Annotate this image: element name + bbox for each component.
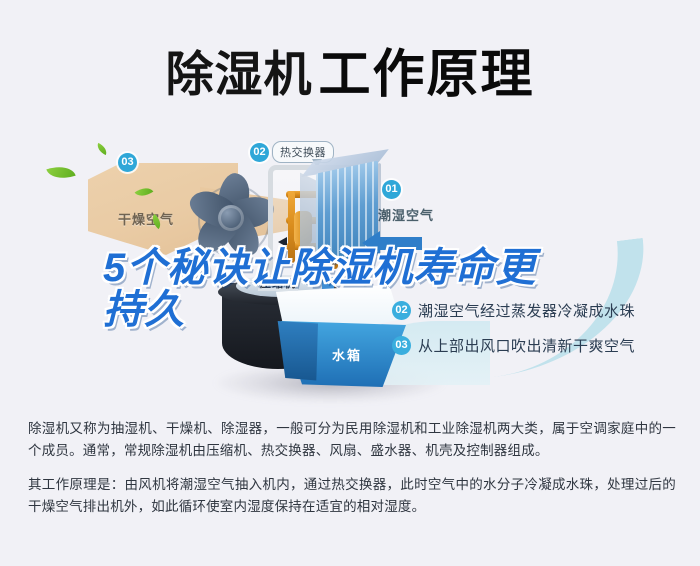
body-text: 除湿机又称为抽湿机、干燥机、除湿器，一般可分为民用除湿机和工业除湿机两大类，属于… [28,418,676,530]
body-paragraph-2: 其工作原理是：由风机将潮湿空气抽入机内，通过热交换器，此时空气中的水分子冷凝成水… [28,474,676,518]
dry-air-label: 干燥空气 [118,209,174,228]
overlay-headline: 5个秘诀让除湿机寿命更持久 [103,247,573,331]
page-title-part1: 除湿机 [165,49,312,102]
body-paragraph-1: 除湿机又称为抽湿机、干燥机、除湿器，一般可分为民用除湿机和工业除湿机两大类，属于… [28,418,676,462]
water-tank-label: 水箱 [332,345,362,364]
moist-air-label: 潮湿空气 [378,205,434,224]
diagram-badge-03: 03 [118,153,137,172]
diagram-badge-01: 01 [382,180,401,199]
diagram-badge-02: 02 [250,143,269,162]
page-title-part2: 工作原理 [319,46,535,104]
infographic-page: 除湿机工作原理 干燥空气 03 02 01 热交换器 潮湿空气 [0,0,700,566]
legend-item: 03 从上部出风口吹出清新干爽空气 [392,335,692,356]
leaf-icon [46,161,75,183]
legend-badge-03: 03 [392,336,411,355]
fan-hub [218,205,244,231]
legend-item-label: 从上部出风口吹出清新干爽空气 [418,335,635,356]
page-title: 除湿机工作原理 [0,32,700,107]
leaf-icon [95,143,109,155]
